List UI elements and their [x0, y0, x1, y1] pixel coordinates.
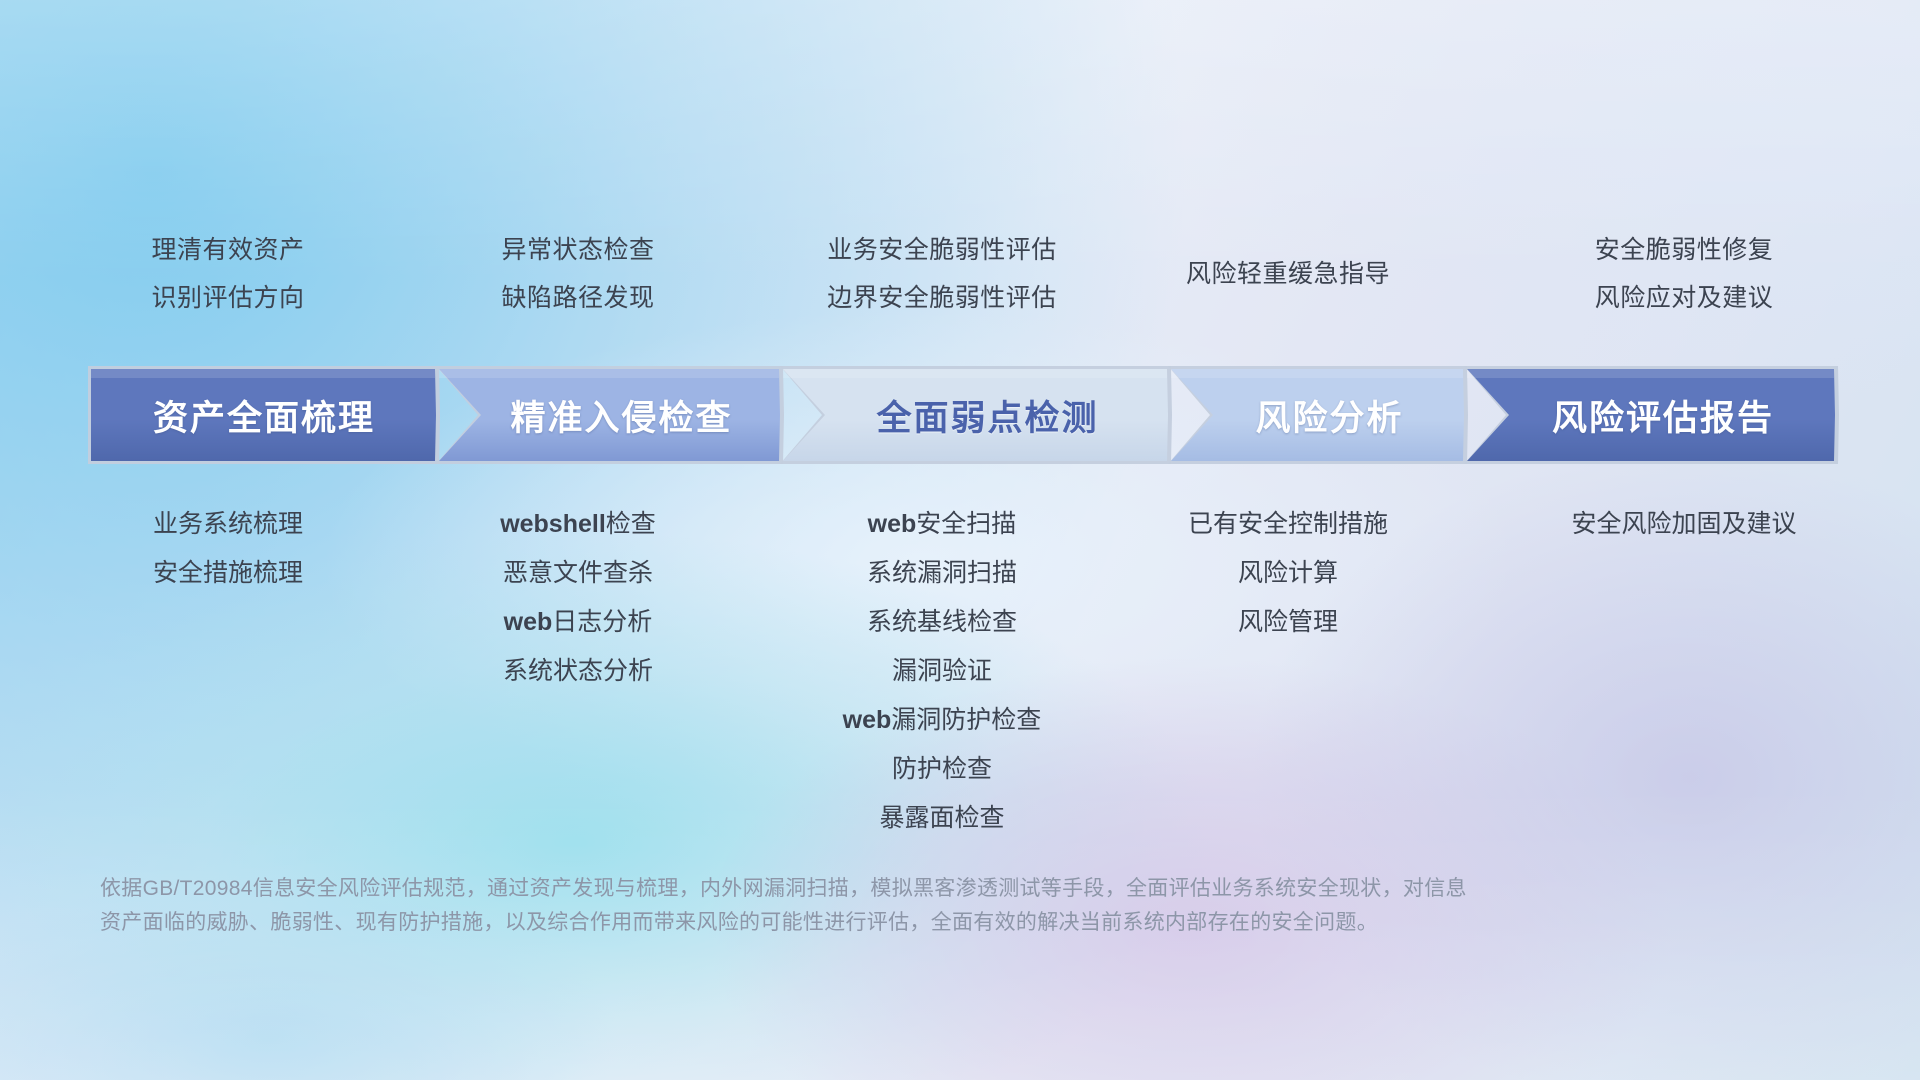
stage-label-intrusion-check: 精准入侵检查: [511, 390, 733, 441]
footer-line-2: 资产面临的威胁、脆弱性、现有防护措施，以及综合作用而带来风险的可能性进行评估，全…: [100, 906, 1830, 940]
slide-canvas: 理清有效资产识别评估方向异常状态检查缺陷路径发现业务安全脆弱性评估边界安全脆弱性…: [0, 0, 1920, 1080]
detail-list-item: 风险计算: [988, 549, 1588, 598]
detail-list-item: 防护检查: [642, 745, 1242, 794]
stage-label-risk-analysis: 风险分析: [1256, 390, 1404, 441]
process-stage-risk-report[interactable]: 风险评估报告: [1464, 366, 1839, 464]
stage-label-asset-inventory: 资产全面梳理: [153, 390, 375, 441]
footer-line-1: 依据GB/T20984信息安全风险评估规范，通过资产发现与梳理，内外网漏洞扫描，…: [100, 872, 1830, 906]
detail-list-item: 漏洞验证: [642, 647, 1242, 696]
top-note-item: 安全脆弱性修复: [1384, 226, 1920, 274]
stage-label-weakness-detection: 全面弱点检测: [877, 390, 1099, 441]
detail-item-latin-prefix: web: [504, 608, 553, 636]
process-chevron-band: 资产全面梳理精准入侵检查全面弱点检测风险分析风险评估报告: [88, 366, 1855, 464]
detail-list-item: 安全风险加固及建议: [1384, 500, 1920, 549]
detail-list-risk-report: 安全风险加固及建议: [1384, 500, 1920, 549]
detail-list-item: web漏洞防护检查: [642, 696, 1242, 745]
process-stage-risk-analysis[interactable]: 风险分析: [1168, 366, 1468, 464]
top-notes-row: 理清有效资产识别评估方向异常状态检查缺陷路径发现业务安全脆弱性评估边界安全脆弱性…: [0, 226, 1920, 346]
stage-label-risk-report: 风险评估报告: [1552, 390, 1774, 441]
detail-item-latin-prefix: web: [843, 706, 892, 734]
process-stage-weakness-detection[interactable]: 全面弱点检测: [780, 366, 1172, 464]
detail-item-latin-prefix: webshell: [500, 510, 606, 538]
process-stage-asset-inventory[interactable]: 资产全面梳理: [88, 366, 440, 464]
detail-list-item: 暴露面检查: [642, 794, 1242, 843]
top-notes-risk-report: 安全脆弱性修复风险应对及建议: [1384, 226, 1920, 322]
detail-list-item: 风险管理: [988, 598, 1588, 647]
top-note-item: 风险应对及建议: [1384, 274, 1920, 322]
process-stage-intrusion-check[interactable]: 精准入侵检查: [436, 366, 784, 464]
footer-description: 依据GB/T20984信息安全风险评估规范，通过资产发现与梳理，内外网漏洞扫描，…: [100, 872, 1830, 940]
detail-item-latin-prefix: web: [868, 510, 917, 538]
slide-content: 理清有效资产识别评估方向异常状态检查缺陷路径发现业务安全脆弱性评估边界安全脆弱性…: [0, 0, 1920, 1080]
